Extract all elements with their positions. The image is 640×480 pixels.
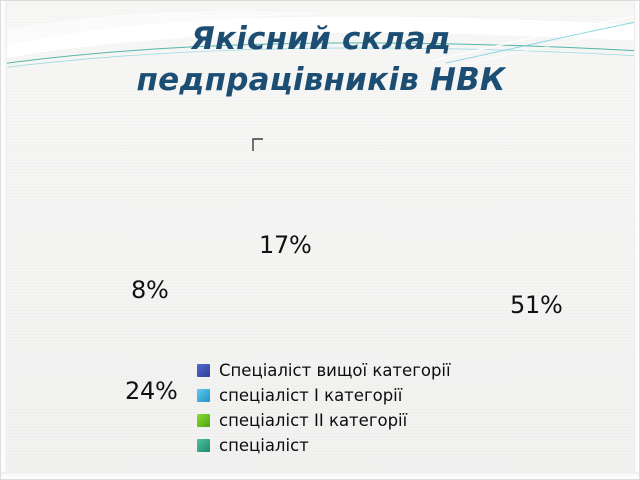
- legend-item-label: спеціаліст I категорії: [219, 386, 402, 406]
- pie-slice-blue: [347, 145, 501, 335]
- pie-value-label-8: 8%: [131, 276, 168, 304]
- slide-title: Якісний склад педпрацівників НВК: [1, 19, 640, 101]
- pie-value-label-24: 24%: [125, 377, 177, 405]
- legend-swatch-icon: [197, 364, 210, 377]
- page-edge-left: [1, 1, 7, 479]
- page-edge-bottom: [1, 472, 639, 479]
- pie-value-label-17: 17%: [259, 231, 311, 259]
- legend-swatch-icon: [197, 439, 210, 452]
- legend-swatch-icon: [197, 389, 210, 402]
- legend-item-specialist-vyshchoi[interactable]: Спеціаліст вищої категорії: [197, 358, 497, 383]
- leader-line-17: [253, 139, 263, 151]
- legend-item-label: Спеціаліст вищої категорії: [219, 361, 451, 381]
- chart-legend: Спеціаліст вищої категорії спеціаліст I …: [197, 358, 497, 458]
- legend-swatch-icon: [197, 414, 210, 427]
- legend-item-label: спеціаліст II категорії: [219, 411, 407, 431]
- pie-chart-svg: [1, 109, 640, 359]
- page-edge-right: [634, 1, 639, 479]
- legend-item-specialist[interactable]: спеціаліст: [197, 433, 497, 458]
- legend-item-label: спеціаліст: [219, 436, 309, 456]
- pie-value-label-51: 51%: [510, 291, 562, 319]
- legend-item-specialist-2[interactable]: спеціаліст II категорії: [197, 408, 497, 433]
- pie-chart: 51% 17% 8% 24%: [1, 109, 640, 359]
- legend-item-specialist-1[interactable]: спеціаліст I категорії: [197, 383, 497, 408]
- presentation-slide: Якісний склад педпрацівників НВК: [0, 0, 640, 480]
